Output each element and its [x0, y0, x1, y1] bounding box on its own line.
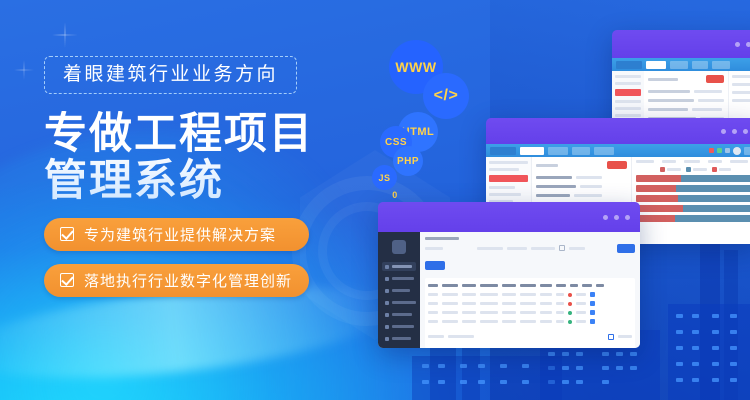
- primary-action-button[interactable]: [607, 161, 627, 169]
- sidebar: [378, 232, 420, 348]
- city-building: [668, 304, 750, 400]
- row-action-icon[interactable]: [590, 310, 595, 315]
- sidebar-item[interactable]: [382, 322, 416, 331]
- window-titlebar[interactable]: [612, 30, 750, 58]
- pagination-page[interactable]: [608, 334, 614, 340]
- bubble-code: </>: [423, 73, 469, 119]
- alert-icon[interactable]: [709, 148, 714, 153]
- feature-pill-2[interactable]: 落地执行行业数字化管理创新: [44, 264, 309, 297]
- window-dot[interactable]: [603, 215, 608, 220]
- window-dot[interactable]: [746, 42, 750, 47]
- table-row[interactable]: [536, 191, 627, 200]
- table-row[interactable]: [648, 105, 724, 114]
- table-row[interactable]: [428, 299, 632, 308]
- data-table: [425, 278, 635, 348]
- app-logo-icon: [392, 240, 406, 254]
- menu-icon: [385, 301, 389, 305]
- app-header: [486, 144, 750, 157]
- menu-icon: [385, 265, 389, 269]
- status-badge: [568, 302, 572, 306]
- table-row[interactable]: [536, 182, 627, 191]
- status-badge: [568, 320, 572, 324]
- window-titlebar[interactable]: [486, 118, 750, 144]
- status-badge: [568, 293, 572, 297]
- headline-block: 着眼建筑行业业务方向 专做工程项目 管理系统 专为建筑行业提供解决方案 落地执行…: [44, 56, 364, 297]
- table-row[interactable]: [536, 173, 627, 182]
- app-tab[interactable]: [548, 147, 568, 155]
- app-tab[interactable]: [572, 147, 590, 155]
- sidebar-item[interactable]: [382, 286, 416, 295]
- app-tab[interactable]: [670, 61, 688, 69]
- sidebar-item[interactable]: [382, 298, 416, 307]
- user-name: [744, 147, 750, 155]
- project-list-window[interactable]: [378, 202, 640, 348]
- check-box-icon: [60, 227, 74, 241]
- table-footer: [428, 332, 632, 341]
- window-titlebar[interactable]: [378, 202, 640, 232]
- window-dot[interactable]: [614, 215, 619, 220]
- avatar[interactable]: [733, 147, 741, 155]
- table-header-row: [428, 281, 632, 290]
- window-dot[interactable]: [625, 215, 630, 220]
- page-title: 专做工程项目 管理系统: [44, 111, 364, 205]
- content-area: [420, 232, 640, 348]
- chart-bar: [636, 175, 750, 182]
- window-dot[interactable]: [735, 42, 740, 47]
- window-dot[interactable]: [743, 129, 748, 134]
- sparkle-icon: [52, 22, 78, 48]
- headline-line-2: 管理系统: [44, 158, 364, 205]
- chart-bar: [636, 195, 750, 202]
- chart-bar: [636, 185, 750, 192]
- message-icon[interactable]: [717, 148, 722, 153]
- app-logo: [490, 147, 516, 155]
- table-row[interactable]: [648, 87, 724, 96]
- chart-bar: [636, 215, 750, 222]
- headline-line-1: 专做工程项目: [44, 110, 314, 158]
- window-dot[interactable]: [721, 129, 726, 134]
- app-tab[interactable]: [712, 61, 730, 69]
- menu-icon: [385, 289, 389, 293]
- sidebar-active-item[interactable]: [615, 89, 641, 96]
- window-body: [378, 232, 640, 348]
- legend-item: [660, 167, 681, 172]
- app-tab[interactable]: [646, 61, 666, 69]
- status-badge: [568, 311, 572, 315]
- sparkle-icon: [14, 60, 34, 80]
- app-tab[interactable]: [520, 147, 544, 155]
- search-button[interactable]: [617, 244, 635, 253]
- legend-item: [712, 167, 731, 172]
- sidebar-item[interactable]: [382, 310, 416, 319]
- filter-toolbar: [425, 243, 635, 253]
- delete-button[interactable]: [706, 75, 724, 83]
- chart-legend: [636, 167, 750, 172]
- legend-item: [686, 167, 707, 172]
- menu-icon: [385, 325, 389, 329]
- feature-pill-2-label: 落地执行行业数字化管理创新: [84, 270, 292, 291]
- eyebrow-tagline: 着眼建筑行业业务方向: [44, 56, 297, 94]
- sidebar-item[interactable]: [382, 262, 416, 271]
- window-dot[interactable]: [732, 129, 737, 134]
- app-logo: [616, 61, 642, 69]
- tree-active-item[interactable]: [489, 175, 528, 182]
- menu-icon: [385, 337, 389, 341]
- breadcrumb: [425, 237, 459, 240]
- app-tab[interactable]: [692, 61, 708, 69]
- sidebar-item[interactable]: [382, 334, 416, 343]
- refresh-icon[interactable]: [559, 245, 565, 251]
- city-building: [412, 356, 562, 400]
- bubble-php: PHP: [393, 146, 423, 176]
- feature-pill-1-label: 专为建筑行业提供解决方案: [84, 224, 276, 245]
- sidebar-item[interactable]: [382, 274, 416, 283]
- menu-icon: [385, 277, 389, 281]
- check-box-icon: [60, 273, 74, 287]
- app-tab[interactable]: [594, 147, 614, 155]
- row-action-icon[interactable]: [590, 292, 595, 297]
- app-header: [612, 58, 750, 71]
- city-tower: [724, 250, 738, 400]
- feature-pill-1[interactable]: 专为建筑行业提供解决方案: [44, 218, 309, 251]
- row-action-icon[interactable]: [590, 319, 595, 324]
- settings-icon[interactable]: [725, 148, 730, 153]
- chart-panel: [632, 157, 750, 244]
- table-row[interactable]: [428, 317, 632, 326]
- menu-icon: [385, 313, 389, 317]
- table-row[interactable]: [428, 308, 632, 317]
- chart-bar: [636, 205, 750, 212]
- add-button[interactable]: [425, 261, 445, 270]
- row-action-icon[interactable]: [590, 301, 595, 306]
- promo-banner: 着眼建筑行业业务方向 专做工程项目 管理系统 专为建筑行业提供解决方案 落地执行…: [0, 0, 750, 400]
- table-row[interactable]: [648, 96, 724, 105]
- table-row[interactable]: [428, 290, 632, 299]
